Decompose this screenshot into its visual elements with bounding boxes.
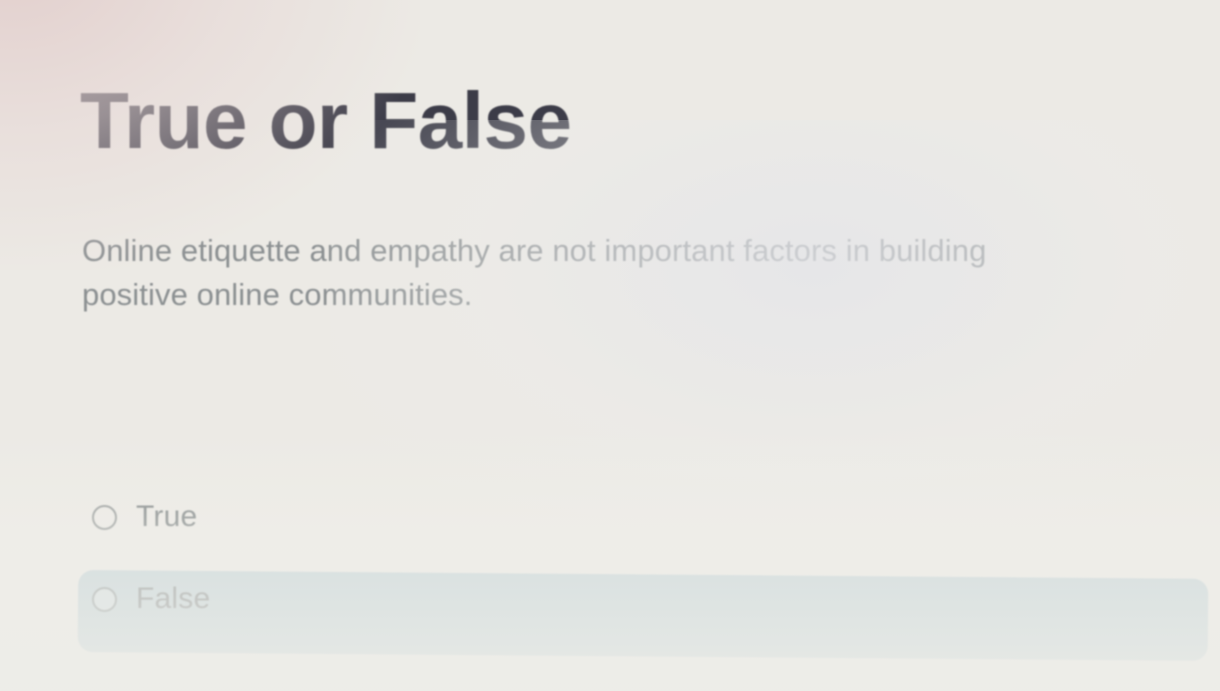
- question-statement: Online etiquette and empathy are not imp…: [82, 229, 1042, 317]
- radio-unselected-icon[interactable]: [92, 505, 117, 530]
- radio-unselected-icon[interactable]: [92, 587, 117, 612]
- answer-options-list: True False: [0, 486, 1220, 630]
- quiz-screen: True or False Online etiquette and empat…: [0, 0, 1220, 691]
- option-label-true: True: [136, 500, 197, 534]
- option-row-true[interactable]: True: [0, 486, 1220, 548]
- option-label-false: False: [136, 582, 210, 616]
- page-title: True or False: [80, 80, 571, 162]
- option-row-false[interactable]: False: [0, 568, 1220, 630]
- quiz-content: True or False Online etiquette and empat…: [0, 0, 1220, 691]
